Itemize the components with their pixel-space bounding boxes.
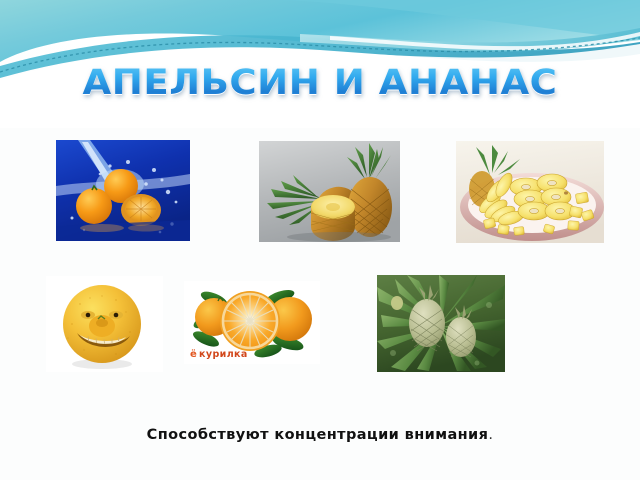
pineapple-slices-graphic xyxy=(456,141,604,243)
watermark-logo-mark: ё xyxy=(190,348,197,360)
caption-text: Способствуют концентрации внимания xyxy=(147,427,489,443)
ring-stack-center xyxy=(510,174,575,220)
orange-cut-graphic: ё курилка xyxy=(184,281,320,364)
orange-face-graphic xyxy=(46,276,163,372)
pineapple-field-graphic xyxy=(377,275,505,372)
slide-caption: Способствуют концентрации внимания. xyxy=(0,427,640,443)
pineapple-pair-graphic xyxy=(259,141,400,242)
watermark-text: курилка xyxy=(199,349,248,360)
image-pineapple-pair xyxy=(259,141,400,242)
slide-canvas: АПЕЛЬСИН И АНАНАС xyxy=(0,0,640,480)
orange-splash-graphic xyxy=(56,140,190,241)
image-pineapple-field xyxy=(377,275,505,372)
page-title: АПЕЛЬСИН И АНАНАС xyxy=(0,63,640,103)
caption-period: . xyxy=(488,427,493,443)
image-orange-face xyxy=(46,276,163,372)
image-pineapple-slices xyxy=(456,141,604,243)
image-orange-splash xyxy=(56,140,190,241)
image-orange-cut: ё курилка xyxy=(184,281,320,364)
watermark-kurilka: ё курилка xyxy=(190,348,248,360)
